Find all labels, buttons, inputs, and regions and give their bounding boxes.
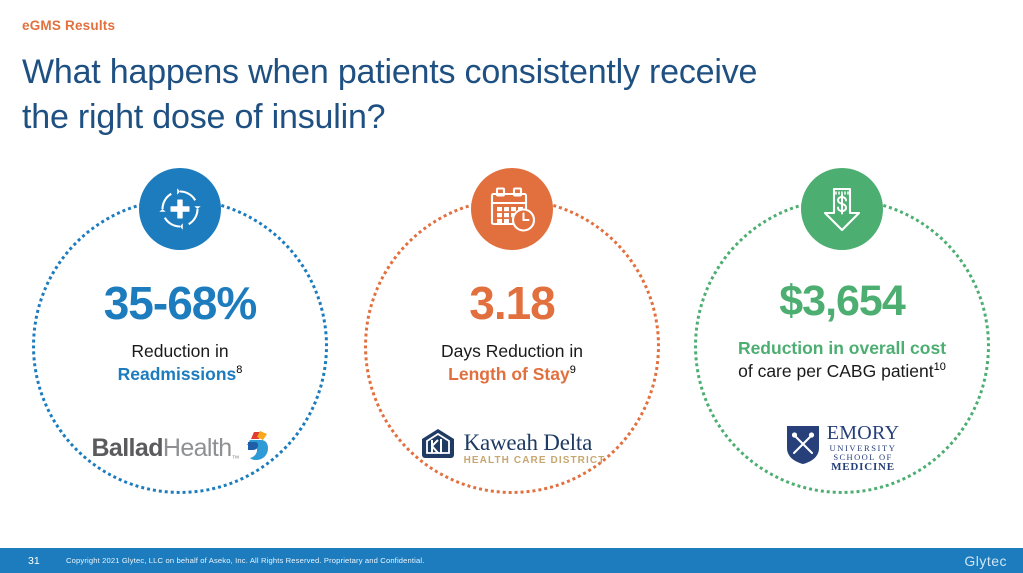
page-title-line-1: What happens when patients consistently … bbox=[22, 53, 757, 91]
stat-line-2: Length of Stay bbox=[448, 364, 570, 384]
kaweah-delta-logo-mark bbox=[419, 427, 457, 470]
stat-card-cost-reduction: $3,654 Reduction in overall cost of care… bbox=[694, 168, 990, 500]
ballad-health-logo-part2: Health bbox=[163, 434, 232, 463]
trademark-mark: ™ bbox=[232, 454, 240, 467]
readmission-cycle-icon bbox=[139, 168, 221, 250]
page-number: 31 bbox=[28, 548, 40, 573]
eyebrow-label: eGMS Results bbox=[22, 18, 115, 33]
stat-card-body: $3,654 Reduction in overall cost of care… bbox=[694, 280, 990, 383]
stat-description: Reduction in Readmissions8 bbox=[32, 340, 328, 386]
emory-logo-part1: EMORY bbox=[827, 423, 900, 444]
stat-value: $3,654 bbox=[694, 280, 990, 323]
stat-card-body: 3.18 Days Reduction in Length of Stay9 bbox=[364, 280, 660, 386]
glytec-logo: Glytec bbox=[964, 548, 1007, 573]
stat-line-2: Readmissions bbox=[118, 364, 237, 384]
emory-school-of-medicine-logo: EMORY UNIVERSITY SCHOOL OF MEDICINE bbox=[785, 423, 900, 473]
cost-down-arrow-dollar-icon bbox=[801, 168, 883, 250]
copyright-notice: Copyright 2021 Glytec, LLC on behalf of … bbox=[66, 548, 424, 573]
partner-logo-slot: EMORY UNIVERSITY SCHOOL OF MEDICINE bbox=[694, 418, 990, 478]
stat-line-1: Reduction in bbox=[131, 341, 228, 361]
page-title: What happens when patients consistently … bbox=[22, 50, 922, 140]
ballad-health-logo-mark bbox=[243, 430, 269, 467]
stat-card-readmissions: 35-68% Reduction in Readmissions8 Ballad… bbox=[32, 168, 328, 500]
footnote-marker: 10 bbox=[934, 361, 946, 373]
emory-logo-part4: MEDICINE bbox=[831, 462, 895, 474]
stat-card-body: 35-68% Reduction in Readmissions8 bbox=[32, 280, 328, 386]
calendar-clock-icon bbox=[471, 168, 553, 250]
ballad-health-logo: Ballad Health ™ bbox=[91, 430, 268, 467]
kaweah-delta-logo-part2: HEALTH CARE DISTRICT bbox=[464, 456, 606, 466]
stat-value: 35-68% bbox=[32, 280, 328, 326]
footnote-marker: 9 bbox=[570, 364, 576, 376]
partner-logo-slot: Ballad Health ™ bbox=[32, 418, 328, 478]
stat-cards-row: 35-68% Reduction in Readmissions8 Ballad… bbox=[0, 168, 1023, 523]
emory-shield-icon bbox=[785, 424, 821, 471]
partner-logo-slot: Kaweah Delta HEALTH CARE DISTRICT bbox=[364, 418, 660, 478]
stat-card-length-of-stay: 3.18 Days Reduction in Length of Stay9 bbox=[364, 168, 660, 500]
stat-description: Reduction in overall cost of care per CA… bbox=[694, 337, 990, 383]
ballad-health-logo-part1: Ballad bbox=[91, 434, 162, 463]
stat-line-1: Reduction in overall cost bbox=[738, 338, 946, 358]
kaweah-delta-logo-part1: Kaweah Delta bbox=[464, 431, 606, 454]
footer-bar: 31 Copyright 2021 Glytec, LLC on behalf … bbox=[0, 548, 1023, 573]
stat-value: 3.18 bbox=[364, 280, 660, 326]
stat-line-2: of care per CABG patient bbox=[738, 361, 934, 381]
stat-line-1: Days Reduction in bbox=[441, 341, 583, 361]
slide-canvas: eGMS Results What happens when patients … bbox=[0, 0, 1023, 573]
kaweah-delta-logo: Kaweah Delta HEALTH CARE DISTRICT bbox=[419, 427, 606, 470]
footnote-marker: 8 bbox=[236, 364, 242, 376]
stat-description: Days Reduction in Length of Stay9 bbox=[364, 340, 660, 386]
page-title-line-2: the right dose of insulin? bbox=[22, 98, 385, 136]
